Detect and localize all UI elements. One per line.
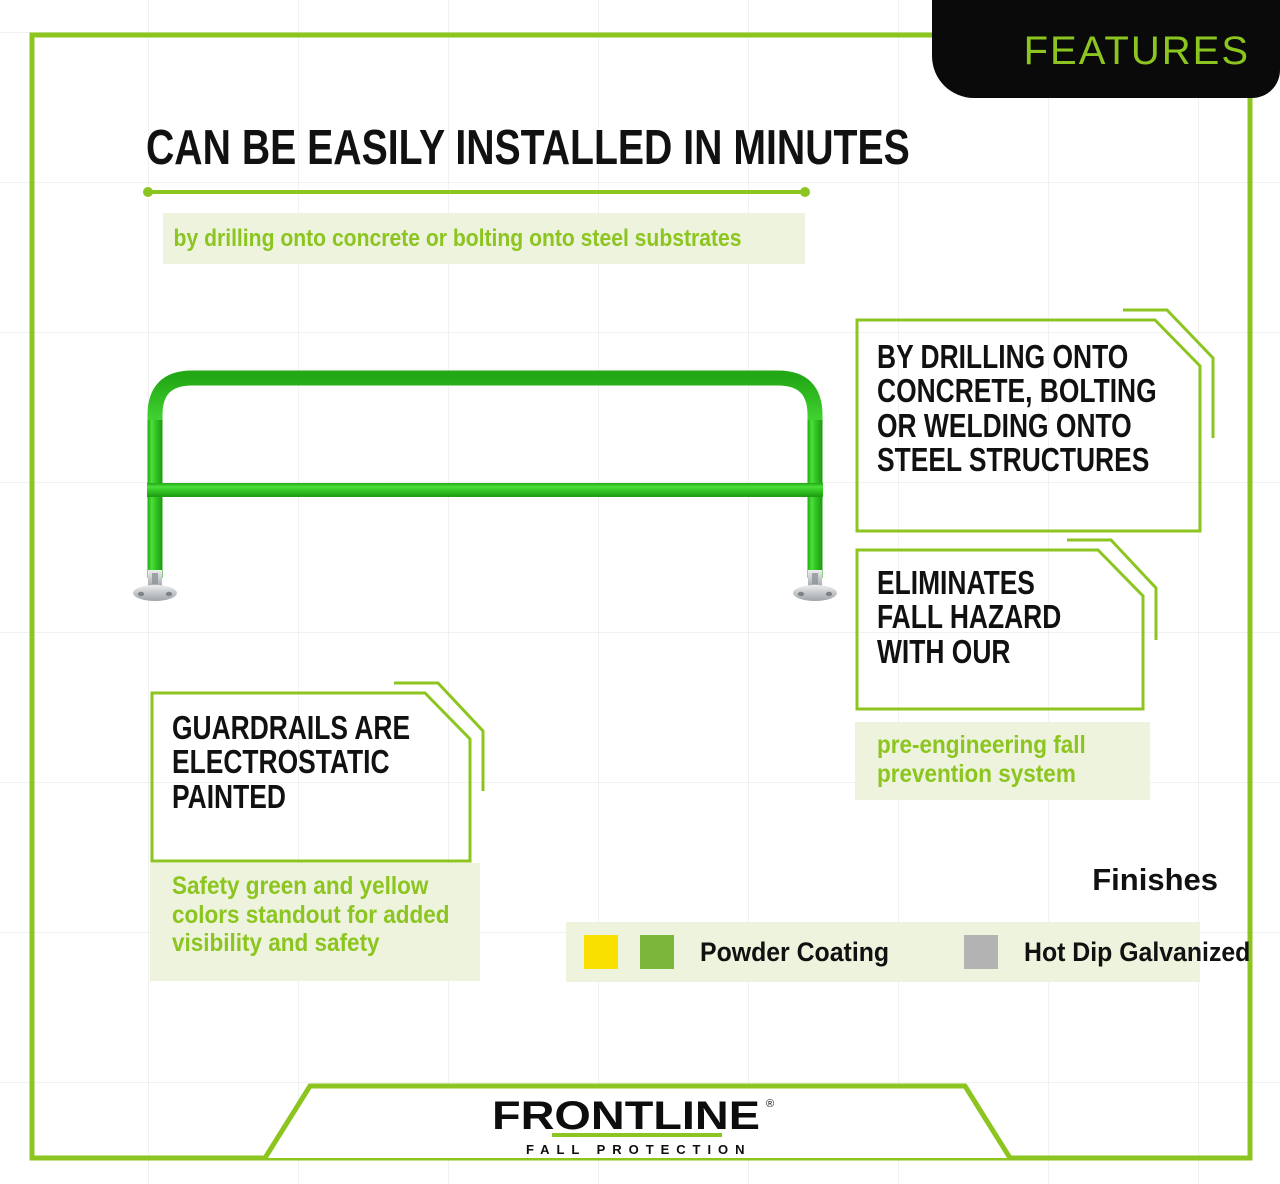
- swatch-gray: [964, 935, 998, 969]
- logo-tagline: FALL PROTECTION: [526, 1142, 750, 1157]
- callout-eliminates-fall-hazard: ELIMINATES FALL HAZARD WITH OUR: [855, 548, 1143, 711]
- finishes-legend: Powder Coating Hot Dip Galvanized: [566, 922, 1200, 982]
- frontline-wordmark-svg: FRONTLINE ® FALL PROTECTION: [490, 1091, 790, 1161]
- callout-by-drilling: BY DRILLING ONTO CONCRETE, BOLTING OR WE…: [855, 318, 1200, 533]
- callout-electrostatic-painted: GUARDRAILS ARE ELECTROSTATIC PAINTED: [150, 691, 470, 863]
- finishes-heading: Finishes: [1092, 862, 1218, 898]
- guardrail-base-plate-left: [133, 570, 177, 601]
- callout-line: BY DRILLING ONTO: [877, 340, 1157, 374]
- guardrail-top-rail: [155, 378, 815, 578]
- infographic-page: FEATURES CAN BE EASILY INSTALLED IN MINU…: [0, 0, 1280, 1184]
- note-line: colors standout for added: [172, 901, 440, 930]
- callout-line: OR WELDING ONTO: [877, 409, 1157, 443]
- callout-drilling-text: BY DRILLING ONTO CONCRETE, BOLTING OR WE…: [877, 340, 1157, 477]
- logo-green-bar: [552, 1133, 722, 1137]
- frontline-logo: FRONTLINE ® FALL PROTECTION: [490, 1091, 790, 1166]
- guardrail-right-post: [808, 420, 823, 578]
- finish-label-powder-coating: Powder Coating: [700, 937, 889, 968]
- callout-line: PAINTED: [172, 780, 410, 814]
- callout-line: GUARDRAILS ARE: [172, 711, 410, 745]
- callout-line: ELIMINATES: [877, 566, 1061, 600]
- swatch-green: [640, 935, 674, 969]
- note-prevention-system: pre-engineering fall prevention system: [855, 722, 1150, 800]
- callout-line: STEEL STRUCTURES: [877, 443, 1157, 477]
- safety-guardrail-illustration: [130, 360, 840, 615]
- subtitle-text: by drilling onto concrete or bolting ont…: [163, 225, 742, 253]
- swatch-yellow: [584, 935, 618, 969]
- page-title: CAN BE EASILY INSTALLED IN MINUTES: [146, 124, 910, 173]
- note-line: prevention system: [877, 760, 1114, 789]
- callout-line: FALL HAZARD: [877, 600, 1061, 634]
- callout-line: CONCRETE, BOLTING: [877, 374, 1157, 408]
- title-underline-rule: [146, 190, 807, 194]
- note-visibility-safety: Safety green and yellow colors standout …: [150, 863, 480, 981]
- note-line: visibility and safety: [172, 929, 440, 958]
- callout-eliminates-text: ELIMINATES FALL HAZARD WITH OUR: [877, 566, 1061, 669]
- guardrail-left-post: [148, 420, 163, 578]
- finish-powder-coating: Powder Coating: [584, 935, 906, 969]
- logo-wordmark: FRONTLINE: [492, 1094, 760, 1138]
- logo-trademark-icon: ®: [766, 1098, 774, 1110]
- callout-line: ELECTROSTATIC: [172, 745, 410, 779]
- features-banner-label: FEATURES: [1024, 29, 1250, 74]
- finish-hot-dip-galvanized: Hot Dip Galvanized: [964, 935, 1270, 969]
- guardrail-mid-rail: [147, 483, 823, 497]
- note-line: pre-engineering fall: [877, 731, 1114, 760]
- callout-line: WITH OUR: [877, 635, 1061, 669]
- callout-guardrails-text: GUARDRAILS ARE ELECTROSTATIC PAINTED: [172, 711, 410, 814]
- note-line: Safety green and yellow: [172, 872, 440, 901]
- features-banner: FEATURES: [932, 0, 1280, 98]
- subtitle-band: by drilling onto concrete or bolting ont…: [163, 213, 805, 264]
- finish-label-hot-dip-galvanized: Hot Dip Galvanized: [1024, 937, 1250, 968]
- guardrail-base-plate-right: [793, 570, 837, 601]
